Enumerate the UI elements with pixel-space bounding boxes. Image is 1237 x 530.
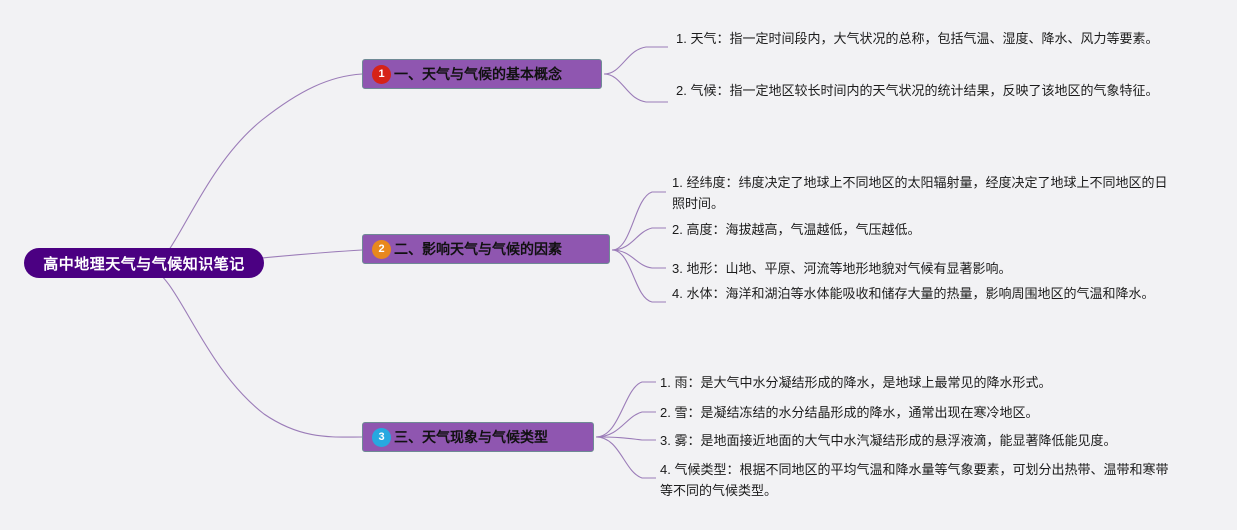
connector-branch-3-leaf-1	[596, 382, 656, 437]
branch-node-3[interactable]: 3 三、天气现象与气候类型	[362, 422, 594, 452]
connector-branch-3-leaf-3	[596, 437, 656, 440]
connector-branch-1-leaf-1	[604, 47, 668, 74]
branch-label-3: 三、天气现象与气候类型	[394, 427, 548, 447]
branch-label-2: 二、影响天气与气候的因素	[394, 239, 562, 259]
leaf-node-3-3[interactable]: 3. 雾：是地面接近地面的大气中水汽凝结形成的悬浮液滴，能显著降低能见度。	[660, 430, 1172, 451]
branch-badge-1: 1	[372, 65, 391, 84]
leaf-node-1-1[interactable]: 1. 天气：指一定时间段内，大气状况的总称，包括气温、湿度、降水、风力等要素。	[676, 28, 1176, 49]
connector-root-branch-3	[150, 268, 362, 437]
leaf-node-1-2[interactable]: 2. 气候：指一定地区较长时间内的天气状况的统计结果，反映了该地区的气象特征。	[676, 80, 1176, 101]
leaf-node-3-4[interactable]: 4. 气候类型：根据不同地区的平均气温和降水量等气象要素，可划分出热带、温带和寒…	[660, 459, 1172, 501]
leaf-node-3-1[interactable]: 1. 雨：是大气中水分凝结形成的降水，是地球上最常见的降水形式。	[660, 372, 1172, 393]
connector-branch-2-leaf-4	[612, 250, 666, 302]
leaf-node-2-4[interactable]: 4. 水体：海洋和湖泊等水体能吸收和储存大量的热量，影响周围地区的气温和降水。	[672, 283, 1174, 304]
connector-branch-1-leaf-2	[604, 74, 668, 102]
leaf-node-3-2[interactable]: 2. 雪：是凝结冻结的水分结晶形成的降水，通常出现在寒冷地区。	[660, 402, 1172, 423]
branch-node-1[interactable]: 1 一、天气与气候的基本概念	[362, 59, 602, 89]
connector-branch-3-leaf-2	[596, 412, 656, 437]
root-node-label: 高中地理天气与气候知识笔记	[43, 253, 245, 274]
connector-branch-2-leaf-1	[612, 192, 666, 250]
branch-label-1: 一、天气与气候的基本概念	[394, 64, 562, 84]
branch-node-2[interactable]: 2 二、影响天气与气候的因素	[362, 234, 610, 264]
branch-badge-2: 2	[372, 240, 391, 259]
root-node[interactable]: 高中地理天气与气候知识笔记	[24, 248, 264, 278]
connector-branch-3-leaf-4	[596, 437, 656, 478]
connector-branch-2-leaf-3	[612, 250, 666, 268]
mindmap-canvas: 高中地理天气与气候知识笔记 1 一、天气与气候的基本概念 1. 天气：指一定时间…	[0, 0, 1237, 530]
leaf-node-2-1[interactable]: 1. 经纬度：纬度决定了地球上不同地区的太阳辐射量，经度决定了地球上不同地区的日…	[672, 172, 1174, 214]
connector-branch-2-leaf-2	[612, 228, 666, 250]
leaf-node-2-3[interactable]: 3. 地形：山地、平原、河流等地形地貌对气候有显著影响。	[672, 258, 1174, 279]
leaf-node-2-2[interactable]: 2. 高度：海拔越高，气温越低，气压越低。	[672, 219, 1174, 240]
connector-root-branch-1	[150, 74, 362, 268]
branch-badge-3: 3	[372, 428, 391, 447]
